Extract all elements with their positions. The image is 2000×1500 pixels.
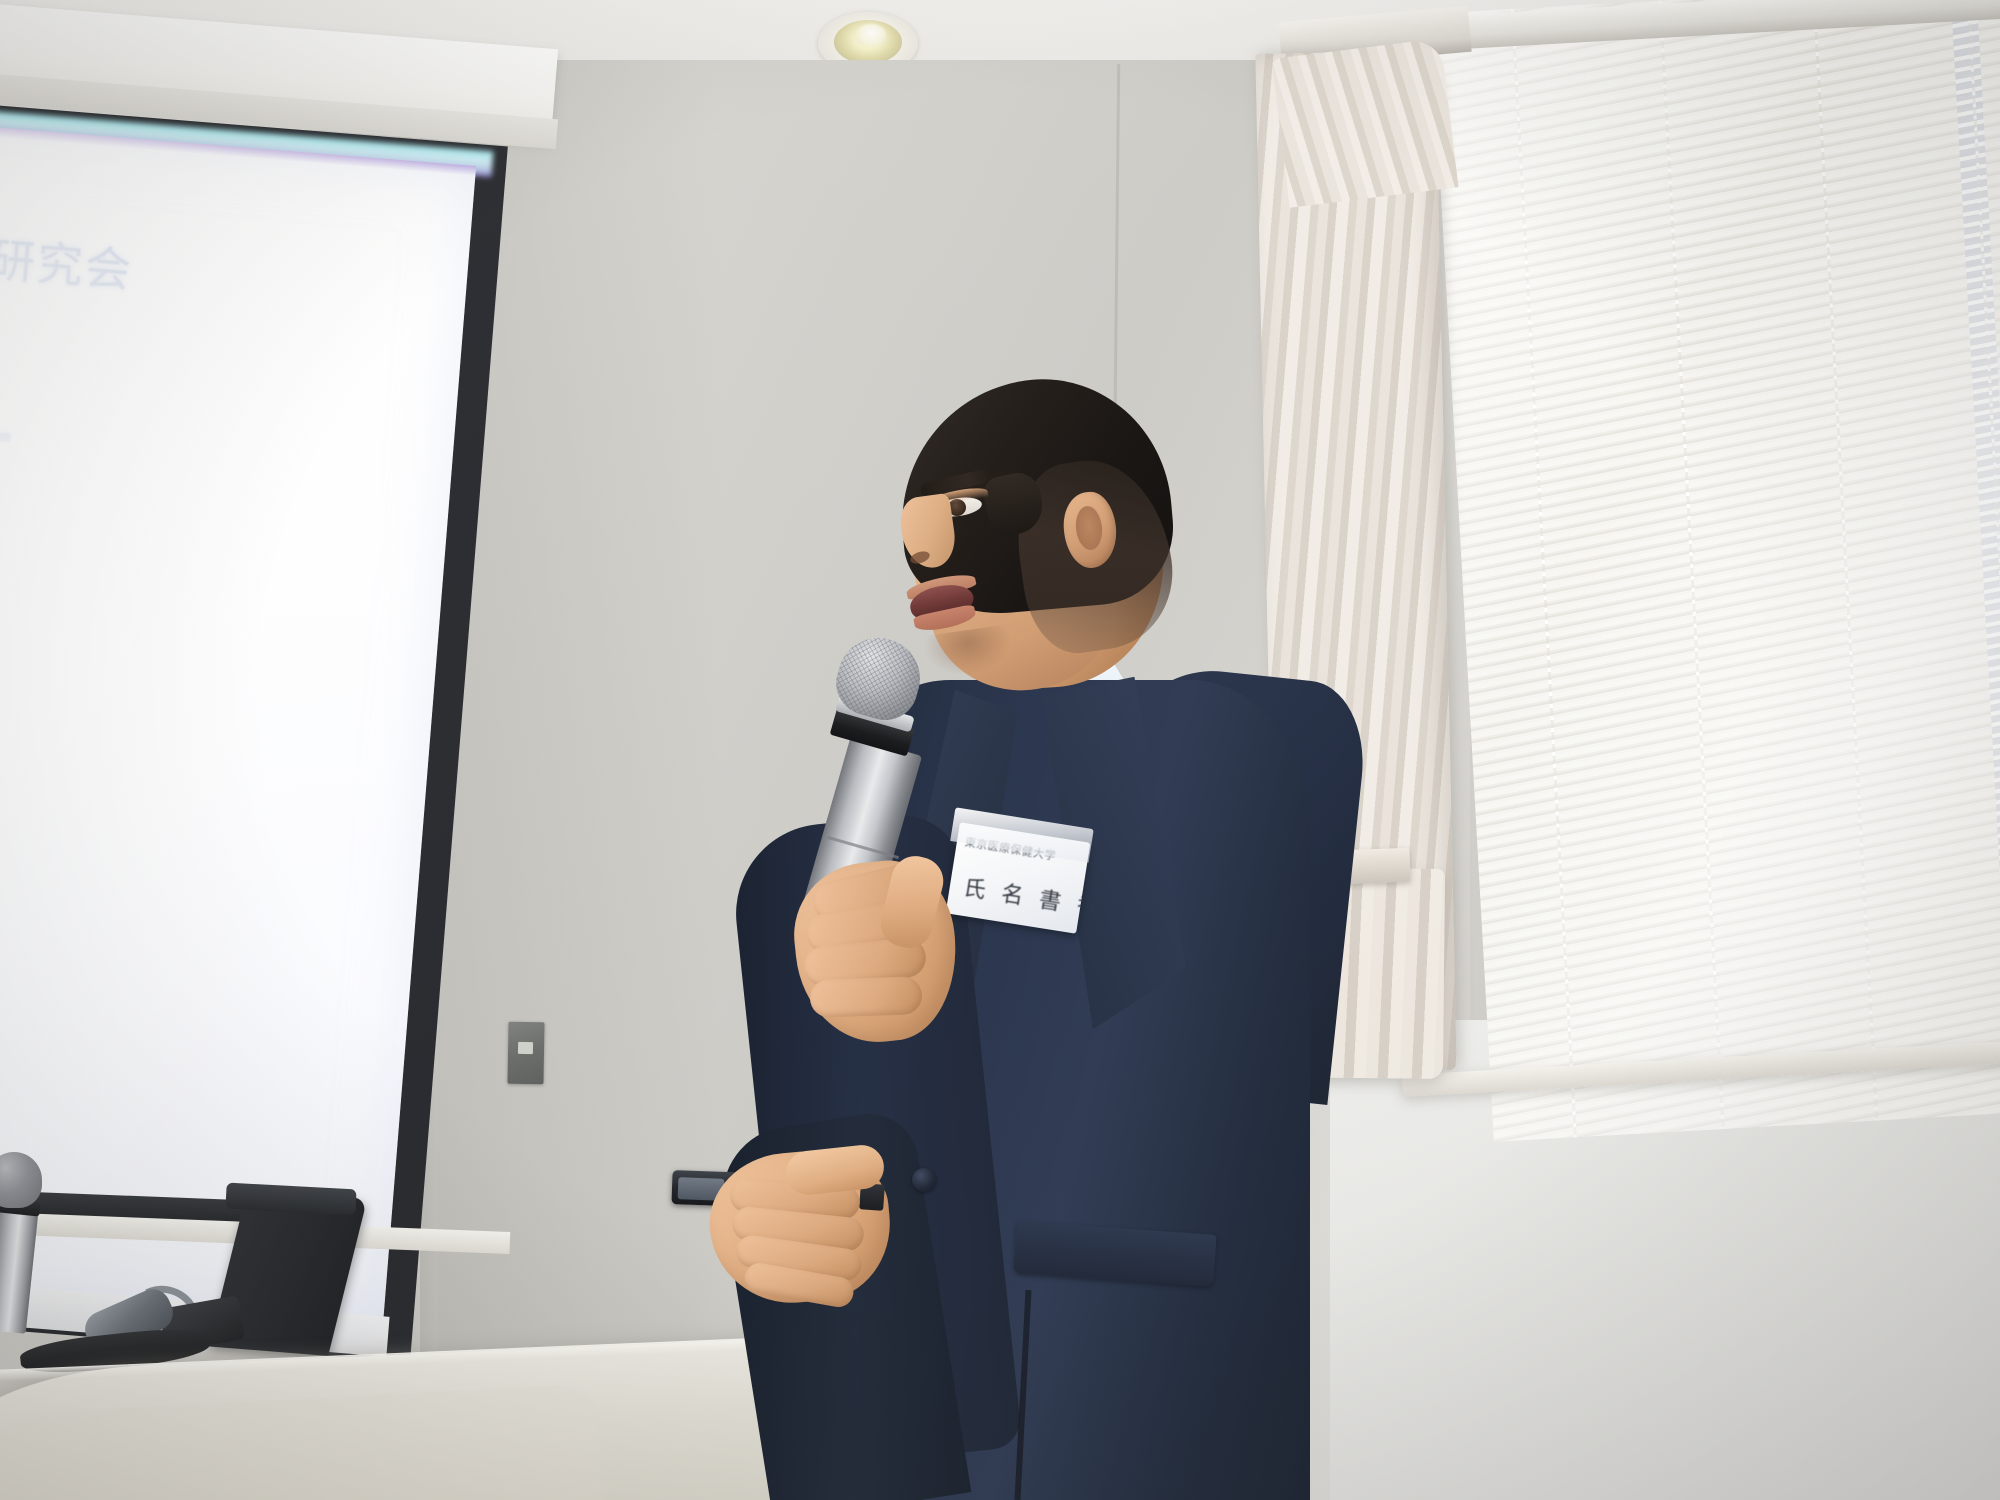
finger [809, 976, 922, 1018]
av-wall-port-socket [518, 1042, 533, 1054]
suit-button [912, 1168, 936, 1192]
presentation-photo: 医用工学研究会 向けて 介 東京医療保健大学 氏 名 書 香 [0, 0, 2000, 1500]
curtain-gather [1271, 38, 1458, 208]
slide-header-text: 医用工学研究会 [0, 208, 136, 301]
blind-highlight [1431, 0, 2000, 1142]
downlight-bulb [856, 24, 886, 46]
window [1431, 0, 2000, 1142]
slide-line-1: 向けて [0, 362, 33, 542]
name-badge-person-name: 氏 名 書 香 [962, 870, 1091, 924]
